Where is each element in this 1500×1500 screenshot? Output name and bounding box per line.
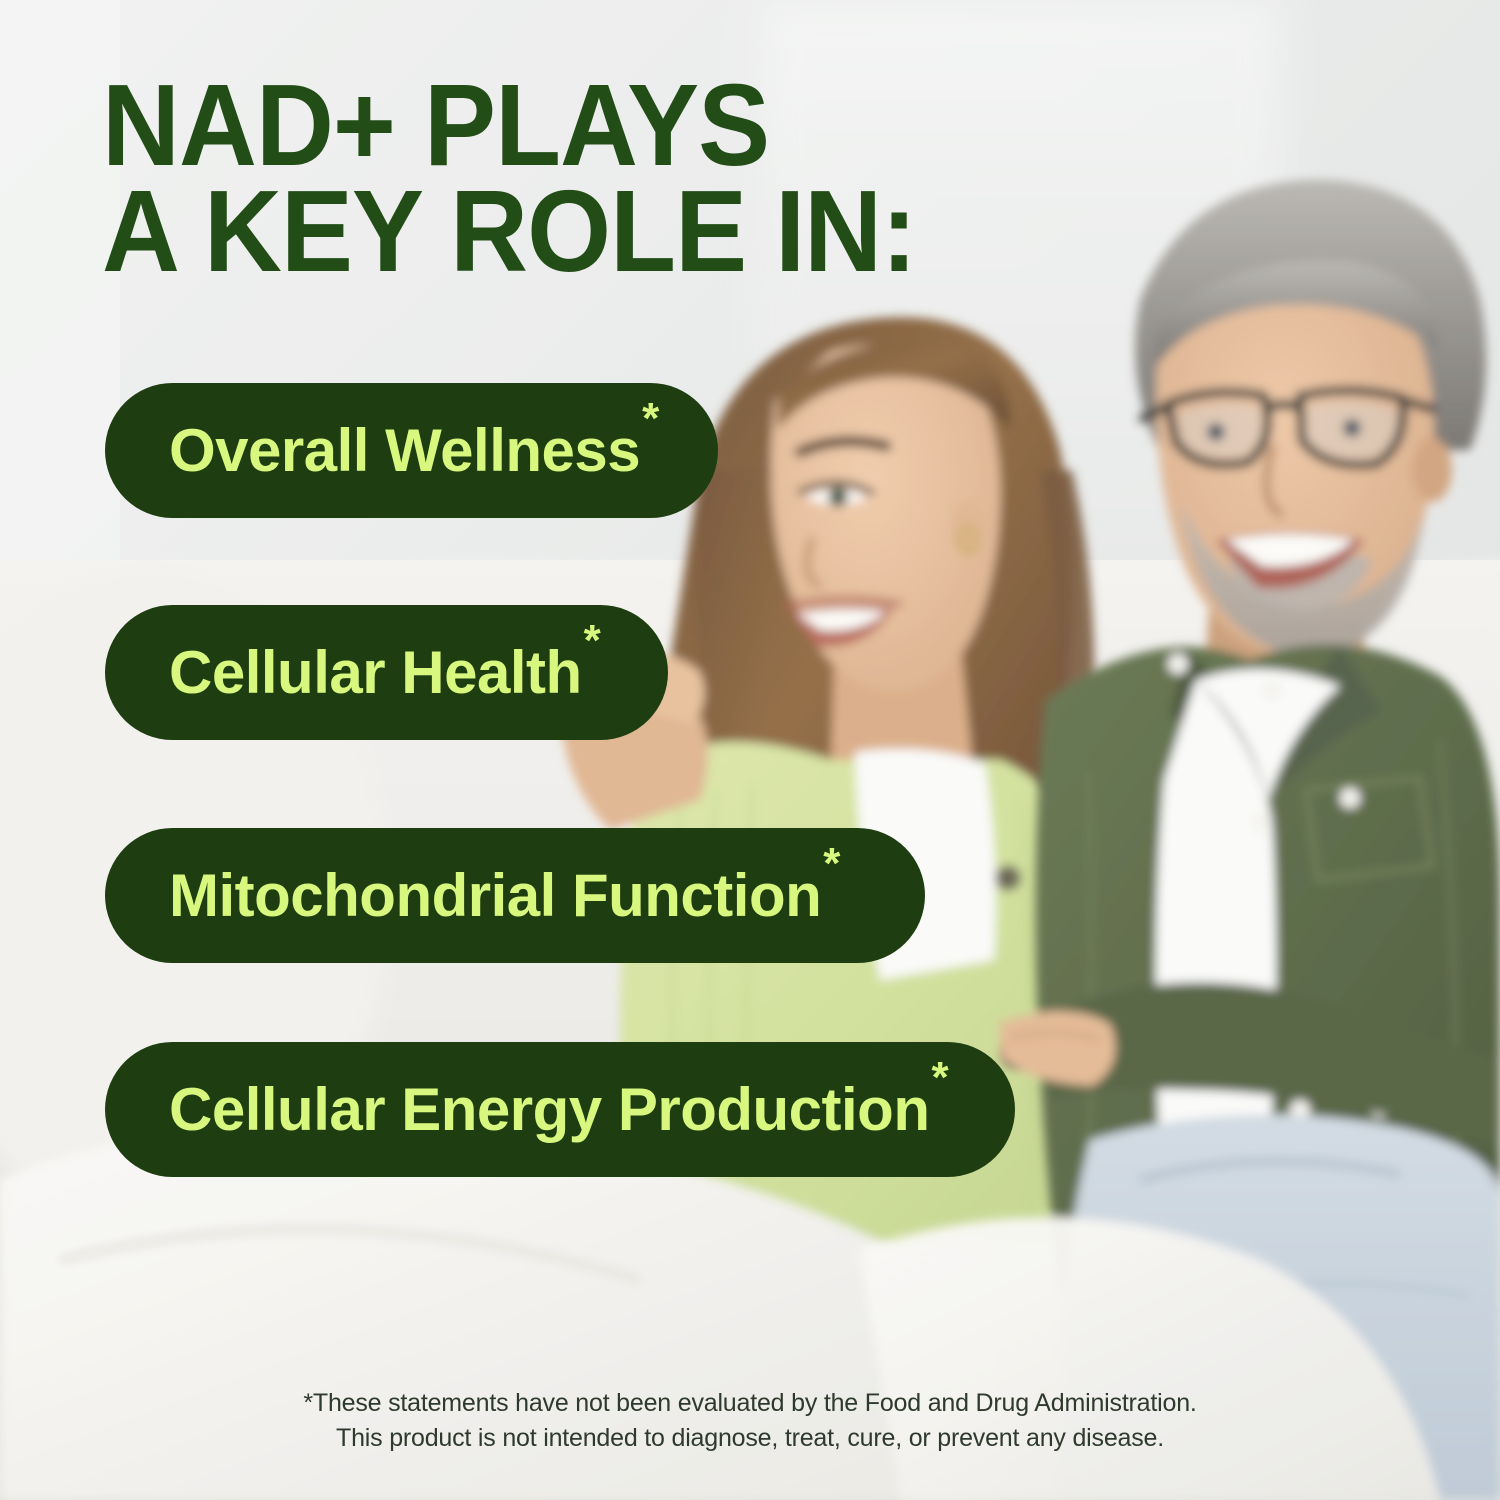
benefit-pill-cellular-energy-production[interactable]: Cellular Energy Production *: [105, 1042, 1015, 1177]
footnote-asterisk-icon: *: [931, 1056, 948, 1100]
benefit-label: Cellular Health: [169, 643, 582, 703]
fda-disclaimer: *These statements have not been evaluate…: [0, 1386, 1500, 1456]
footnote-asterisk-icon: *: [823, 842, 840, 886]
page-title: NAD+ PLAYS A KEY ROLE IN:: [102, 72, 916, 284]
benefit-pill-overall-wellness[interactable]: Overall Wellness *: [105, 383, 718, 518]
benefit-pill-cellular-health[interactable]: Cellular Health *: [105, 605, 668, 740]
footnote-asterisk-icon: *: [642, 397, 659, 441]
benefit-label: Overall Wellness: [169, 421, 640, 481]
benefit-label: Cellular Energy Production: [169, 1080, 929, 1140]
infographic-canvas: NAD+ PLAYS A KEY ROLE IN: Overall Wellne…: [0, 0, 1500, 1500]
benefit-label: Mitochondrial Function: [169, 866, 821, 926]
benefit-pill-mitochondrial-function[interactable]: Mitochondrial Function *: [105, 828, 925, 963]
footnote-asterisk-icon: *: [584, 619, 601, 663]
headline-line-2: A KEY ROLE IN:: [102, 166, 916, 296]
